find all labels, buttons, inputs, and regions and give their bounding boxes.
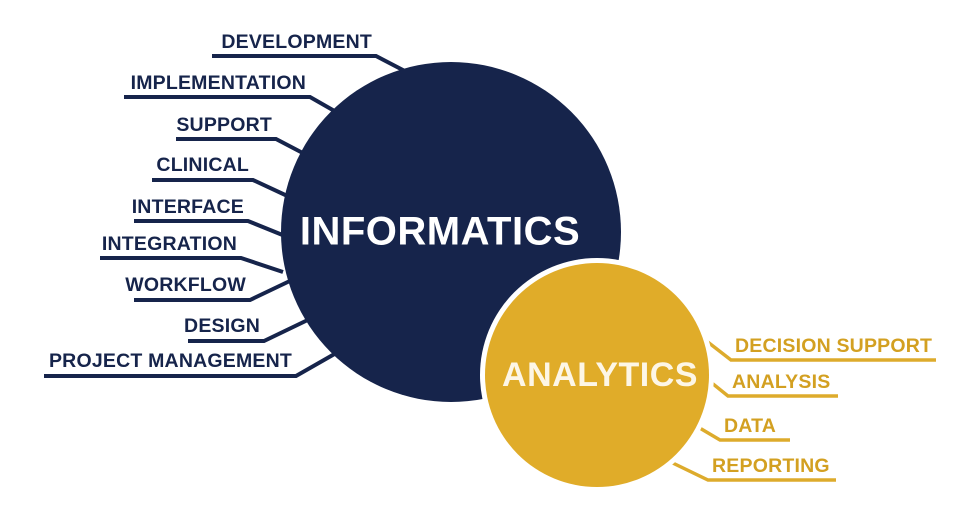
- branch-label: DECISION SUPPORT: [735, 335, 932, 357]
- branch-connector: [100, 258, 283, 272]
- branch-label: DESIGN: [184, 315, 260, 337]
- branch-label: WORKFLOW: [125, 274, 246, 296]
- branch-label: ANALYSIS: [732, 371, 830, 393]
- diagram-canvas: DEVELOPMENTIMPLEMENTATIONSUPPORTCLINICAL…: [0, 0, 973, 508]
- branch-label: PROJECT MANAGEMENT: [49, 350, 292, 372]
- branch-clinical[interactable]: CLINICAL: [152, 154, 296, 200]
- analytics-label: ANALYTICS: [502, 356, 698, 394]
- branch-decision-support[interactable]: DECISION SUPPORT: [700, 335, 936, 360]
- branch-label: INTEGRATION: [102, 233, 237, 255]
- branch-label: DEVELOPMENT: [221, 31, 372, 53]
- informatics-label: INFORMATICS: [300, 210, 580, 254]
- branch-label: SUPPORT: [176, 114, 272, 136]
- branch-label: INTERFACE: [132, 196, 244, 218]
- branch-design[interactable]: DESIGN: [184, 315, 316, 341]
- branch-project-management[interactable]: PROJECT MANAGEMENT: [44, 350, 338, 376]
- branch-label: CLINICAL: [156, 154, 249, 176]
- branch-label: IMPLEMENTATION: [131, 72, 306, 94]
- branch-label: DATA: [724, 415, 776, 437]
- informatics-analytics-diagram: DEVELOPMENTIMPLEMENTATIONSUPPORTCLINICAL…: [0, 0, 973, 508]
- branch-analysis[interactable]: ANALYSIS: [697, 371, 838, 396]
- branch-label: REPORTING: [712, 455, 830, 477]
- branch-interface[interactable]: INTERFACE: [132, 196, 285, 236]
- branch-integration[interactable]: INTEGRATION: [100, 233, 283, 272]
- branch-workflow[interactable]: WORKFLOW: [125, 274, 294, 300]
